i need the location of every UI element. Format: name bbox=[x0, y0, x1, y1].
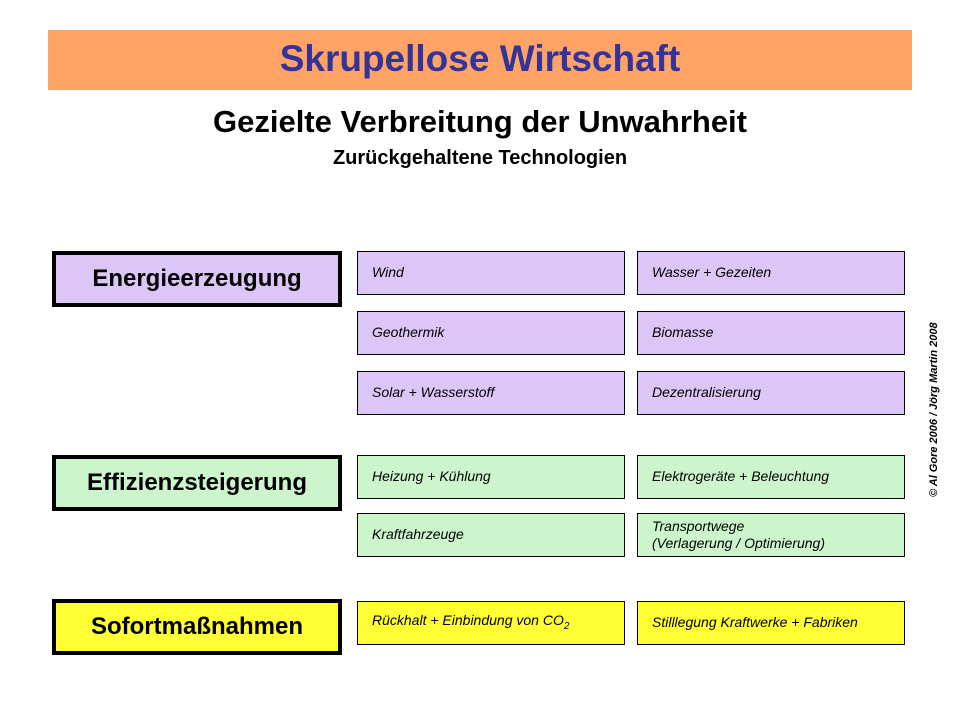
category-label: Sofortmaßnahmen bbox=[91, 613, 303, 641]
item-box: Wind bbox=[357, 251, 625, 295]
item-label-co2-subscript: 2 bbox=[564, 621, 570, 632]
item-box: Biomasse bbox=[637, 311, 905, 355]
item-label-co2-prefix: Rückhalt + Einbindung von CO bbox=[372, 612, 564, 628]
heading-main: Gezielte Verbreitung der Unwahrheit bbox=[48, 104, 912, 140]
item-box: Rückhalt + Einbindung von CO2 bbox=[357, 601, 625, 645]
item-box: Transportwege (Verlagerung / Optimierung… bbox=[637, 513, 905, 557]
item-box: Geothermik bbox=[357, 311, 625, 355]
item-label: Stilllegung Kraftwerke + Fabriken bbox=[652, 614, 858, 632]
category-box-sofortmassnahmen: Sofortmaßnahmen bbox=[52, 599, 342, 655]
item-box: Kraftfahrzeuge bbox=[357, 513, 625, 557]
heading-sub: Zurückgehaltene Technologien bbox=[48, 147, 912, 170]
page-title: Skrupellose Wirtschaft bbox=[48, 30, 912, 90]
item-label: Transportwege (Verlagerung / Optimierung… bbox=[652, 518, 825, 553]
item-box: Heizung + Kühlung bbox=[357, 455, 625, 499]
category-box-energieerzeugung: Energieerzeugung bbox=[52, 251, 342, 307]
category-label: Energieerzeugung bbox=[92, 265, 301, 293]
category-box-effizienzsteigerung: Effizienzsteigerung bbox=[52, 455, 342, 511]
item-box: Stilllegung Kraftwerke + Fabriken bbox=[637, 601, 905, 645]
item-box: Dezentralisierung bbox=[637, 371, 905, 415]
item-label: Kraftfahrzeuge bbox=[372, 526, 464, 544]
category-label: Effizienzsteigerung bbox=[87, 469, 307, 497]
item-box: Solar + Wasserstoff bbox=[357, 371, 625, 415]
item-label: Wasser + Gezeiten bbox=[652, 264, 771, 282]
item-box: Wasser + Gezeiten bbox=[637, 251, 905, 295]
item-label: Solar + Wasserstoff bbox=[372, 384, 494, 402]
item-label: Elektrogeräte + Beleuchtung bbox=[652, 468, 829, 486]
copyright-notice: © Al Gore 2006 / Jörg Martin 2008 bbox=[928, 297, 940, 497]
item-label: Dezentralisierung bbox=[652, 384, 761, 402]
item-label-co2: Rückhalt + Einbindung von CO2 bbox=[372, 612, 569, 633]
item-label: Heizung + Kühlung bbox=[372, 468, 491, 486]
slide-canvas: Skrupellose Wirtschaft Gezielte Verbreit… bbox=[0, 0, 960, 720]
item-label: Geothermik bbox=[372, 324, 444, 342]
title-bar: Skrupellose Wirtschaft bbox=[48, 30, 912, 90]
item-label: Biomasse bbox=[652, 324, 713, 342]
item-label: Wind bbox=[372, 264, 404, 282]
item-box: Elektrogeräte + Beleuchtung bbox=[637, 455, 905, 499]
